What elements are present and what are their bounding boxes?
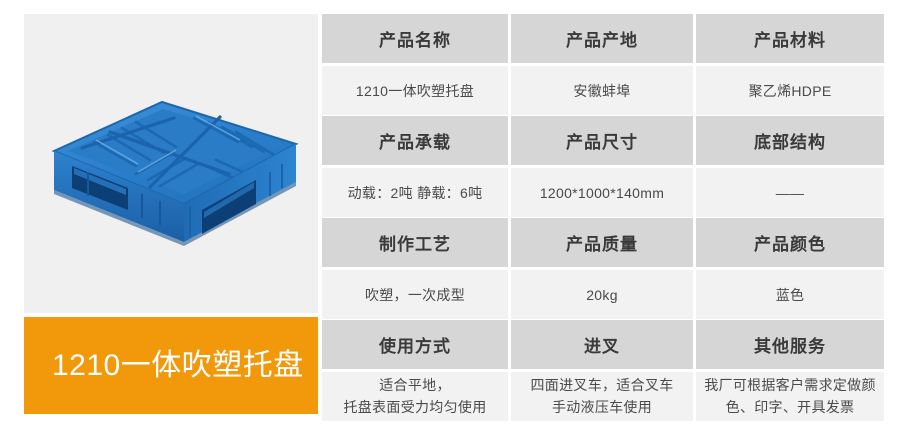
spec-header-other-services: 其他服务 [696,320,884,369]
spec-value-product-weight: 20kg [511,270,693,319]
spec-value-load-capacity: 动载：2吨 静载：6吨 [322,168,508,217]
spec-value-fork-entry-line2: 手动液压车使用 [531,397,674,419]
spec-value-row-3: 吹塑，一次成型 20kg 蓝色 [322,270,884,319]
specification-table: 产品名称 产品产地 产品材料 1210一体吹塑托盘 安徽蚌埠 聚乙烯HDPE 产… [322,14,884,414]
spec-header-manufacturing-process: 制作工艺 [322,218,508,267]
spec-value-manufacturing-process: 吹塑，一次成型 [322,270,508,319]
spec-value-usage-method-line1: 适合平地， [344,375,487,397]
spec-header-fork-entry: 进叉 [511,320,693,369]
spec-header-row-4: 使用方式 进叉 其他服务 [322,320,884,369]
spec-header-product-size: 产品尺寸 [511,116,693,165]
spec-header-load-capacity: 产品承载 [322,116,508,165]
spec-value-product-name: 1210一体吹塑托盘 [322,66,508,115]
spec-header-product-material: 产品材料 [696,14,884,63]
spec-value-fork-entry: 四面进叉车，适合叉车 手动液压车使用 [511,372,693,421]
spec-value-usage-method-line2: 托盘表面受力均匀使用 [344,397,487,419]
product-image-panel [24,14,318,313]
spec-value-row-1: 1210一体吹塑托盘 安徽蚌埠 聚乙烯HDPE [322,66,884,115]
spec-header-product-origin: 产品产地 [511,14,693,63]
spec-value-product-origin: 安徽蚌埠 [511,66,693,115]
spec-header-row-1: 产品名称 产品产地 产品材料 [322,14,884,63]
product-spec-page: 1210一体吹塑托盘 产品名称 产品产地 产品材料 1210一体吹塑托盘 安徽蚌… [0,0,910,431]
spec-value-other-services-line1: 我厂可根据客户需求定做颜 [704,375,876,397]
spec-header-bottom-structure: 底部结构 [696,116,884,165]
spec-header-row-3: 制作工艺 产品质量 产品颜色 [322,218,884,267]
spec-value-bottom-structure: —— [696,168,884,217]
spec-value-other-services: 我厂可根据客户需求定做颜 色、印字、开具发票 [696,372,884,421]
spec-value-row-4: 适合平地， 托盘表面受力均匀使用 四面进叉车，适合叉车 手动液压车使用 我厂可根… [322,372,884,421]
spec-value-product-size: 1200*1000*140mm [511,168,693,217]
product-title-banner: 1210一体吹塑托盘 [24,317,318,414]
spec-header-product-name: 产品名称 [322,14,508,63]
spec-value-fork-entry-line1: 四面进叉车，适合叉车 [531,375,674,397]
spec-value-row-2: 动载：2吨 静载：6吨 1200*1000*140mm —— [322,168,884,217]
spec-value-product-material: 聚乙烯HDPE [696,66,884,115]
spec-header-product-color: 产品颜色 [696,218,884,267]
product-title-text: 1210一体吹塑托盘 [24,351,304,381]
spec-header-usage-method: 使用方式 [322,320,508,369]
spec-value-product-color: 蓝色 [696,270,884,319]
spec-header-product-weight: 产品质量 [511,218,693,267]
blue-plastic-pallet-photo [24,14,318,313]
spec-value-usage-method: 适合平地， 托盘表面受力均匀使用 [322,372,508,421]
spec-value-other-services-line2: 色、印字、开具发票 [704,397,876,419]
spec-header-row-2: 产品承载 产品尺寸 底部结构 [322,116,884,165]
